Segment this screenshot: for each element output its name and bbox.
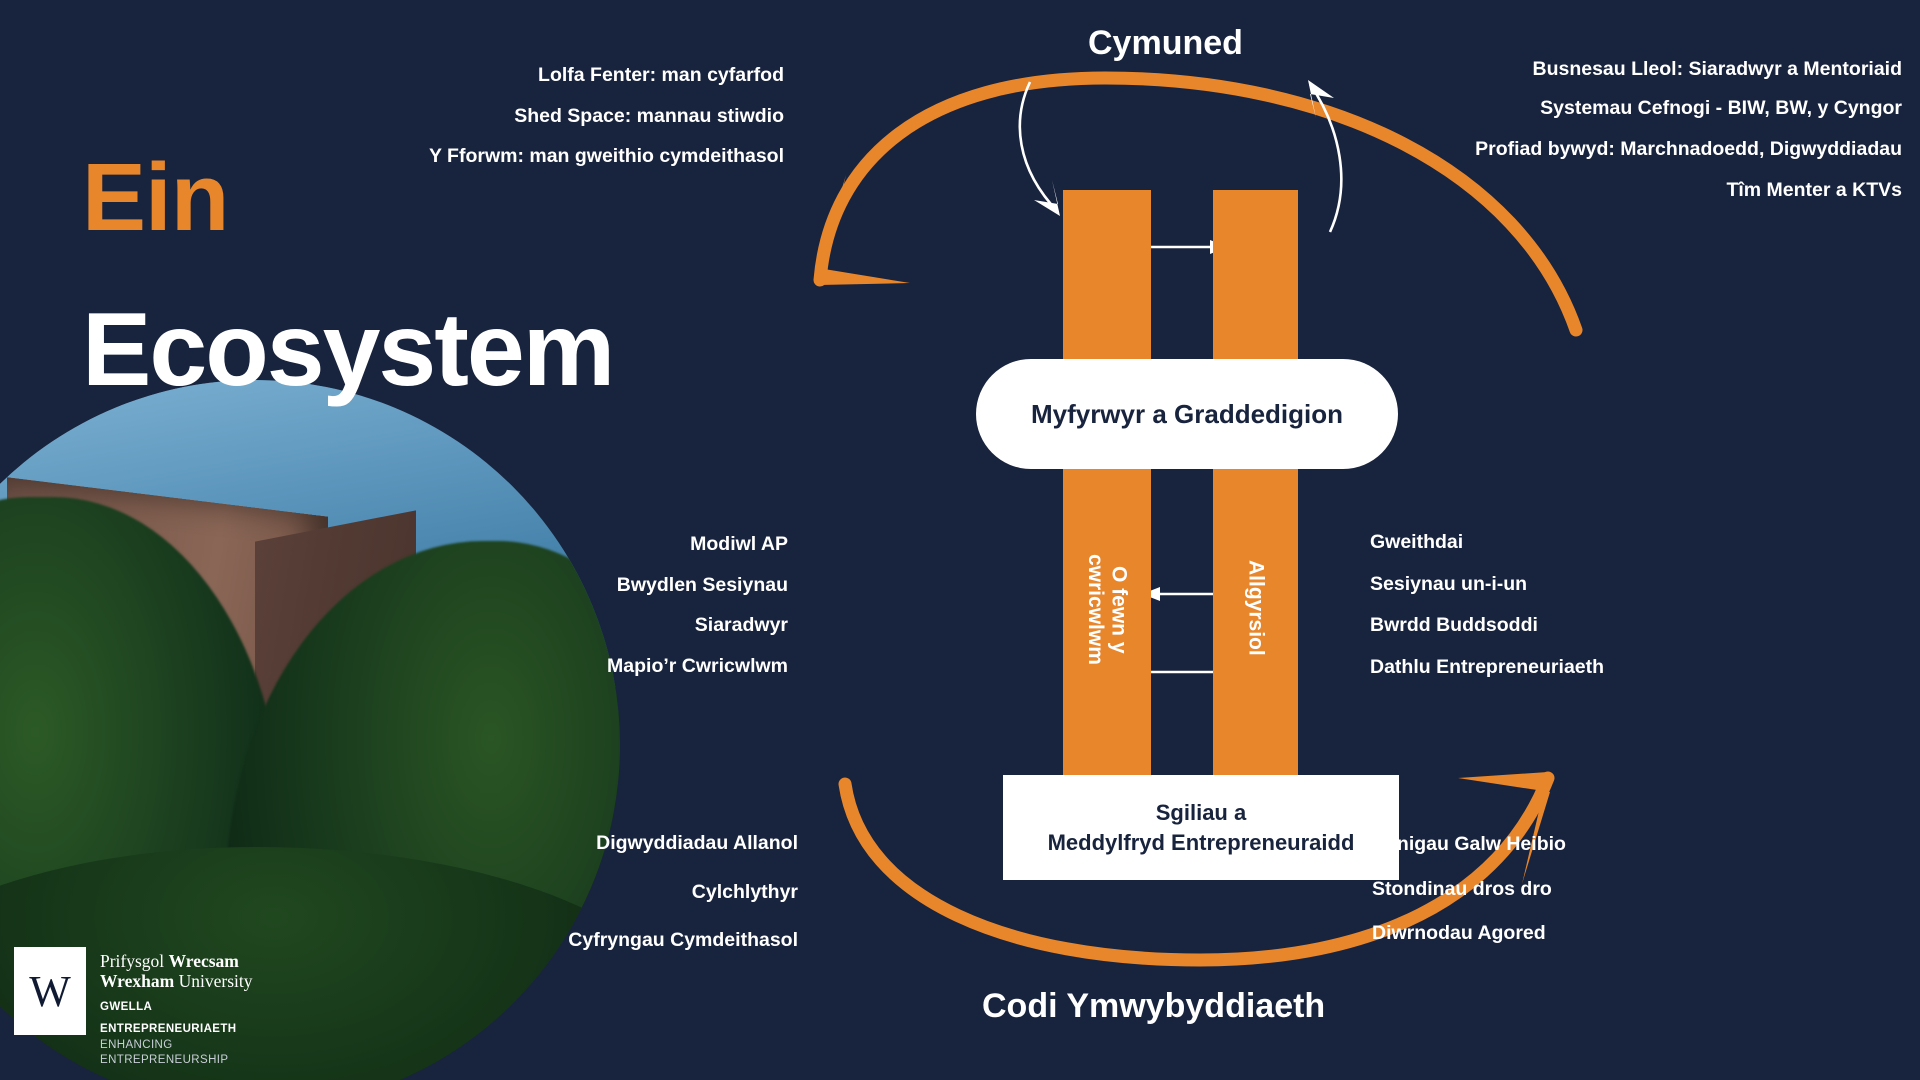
logo-text-block: Prifysgol Wrecsam Wrexham University GWE… — [100, 947, 252, 1068]
university-logo-lockup: W Prifysgol Wrecsam Wrexham University G… — [14, 947, 252, 1068]
section-title-community: Cymuned — [1088, 24, 1243, 63]
list-item: Sesiynau un-i-un — [1370, 575, 1800, 595]
pillar-extracurricular-label: Allgyrsiol — [1244, 560, 1268, 656]
logo-tagline-welsh-2: ENTREPRENEURIAETH — [100, 1023, 252, 1037]
labels-mid-left: Modiwl AP Bwydlen Sesiynau Siaradwyr Map… — [368, 535, 788, 697]
list-item: Lolfa Fenter: man cyfarfod — [224, 66, 784, 86]
w-monogram-icon: W — [14, 947, 86, 1035]
list-item: Cylchlythyr — [318, 883, 798, 903]
section-title-raising-awareness: Codi Ymwybyddiaeth — [982, 987, 1325, 1026]
pillar-within-curriculum-label: O fewn y cwricwlwm — [1083, 554, 1130, 665]
logo-tagline-english-1: ENHANCING — [100, 1039, 252, 1053]
logo-university-welsh: Prifysgol Wrecsam — [100, 951, 252, 971]
logo-wrecsam: Wrecsam — [169, 951, 239, 971]
center-students-graduates-pill[interactable]: Myfyrwyr a Graddedigion — [976, 359, 1398, 469]
page-title: Ein Ecosystem — [82, 150, 613, 402]
labels-mid-right: Gweithdai Sesiynau un-i-un Bwrdd Buddsod… — [1370, 533, 1800, 699]
list-item: Digwyddiadau Allanol — [318, 834, 798, 854]
labels-bottom-left: Digwyddiadau Allanol Cylchlythyr Cyfryng… — [318, 834, 798, 980]
list-item: Stondinau dros dro — [1372, 880, 1802, 900]
logo-tagline-welsh-1: GWELLA — [100, 1001, 252, 1015]
list-item: Modiwl AP — [368, 535, 788, 555]
list-item: Tîm Menter a KTVs — [1382, 181, 1902, 201]
list-item: Bwrdd Buddsoddi — [1370, 616, 1800, 636]
list-item: Profiad bywyd: Marchnadoedd, Digwyddiada… — [1382, 137, 1902, 162]
labels-top-left: Lolfa Fenter: man cyfarfod Shed Space: m… — [224, 66, 784, 188]
list-item: Busnesau Lleol: Siaradwyr a Mentoriaid — [1382, 60, 1902, 80]
list-item: Siaradwyr — [368, 616, 788, 636]
logo-university-word: University — [174, 971, 252, 991]
title-line-ecosystem: Ecosystem — [82, 298, 613, 402]
list-item: Y Fforwm: man gweithio cymdeithasol — [224, 147, 784, 167]
white-curved-arrow-down-icon — [1020, 82, 1060, 216]
bottom-skills-mindset-box[interactable]: Sgiliau a Meddylfryd Entrepreneuraidd — [1003, 775, 1399, 880]
logo-university-english: Wrexham University — [100, 971, 252, 991]
list-item: Gweithdai — [1370, 533, 1800, 553]
center-pill-label: Myfyrwyr a Graddedigion — [1031, 399, 1343, 430]
list-item: Dathlu Entrepreneuriaeth — [1370, 658, 1800, 678]
labels-bottom-right: Clinigau Galw Heibio Stondinau dros dro … — [1372, 835, 1802, 969]
logo-wrexham: Wrexham — [100, 971, 174, 991]
labels-top-right: Busnesau Lleol: Siaradwyr a Mentoriaid S… — [1382, 60, 1902, 219]
logo-prifysgol: Prifysgol — [100, 951, 169, 971]
bottom-box-label: Sgiliau a Meddylfryd Entrepreneuraidd — [1048, 798, 1355, 858]
logo-tagline-english-2: ENTREPRENEURSHIP — [100, 1054, 252, 1068]
list-item: Cyfryngau Cymdeithasol — [318, 931, 798, 951]
list-item: Systemau Cefnogi - BIW, BW, y Cyngor — [1382, 99, 1902, 119]
list-item: Mapio’r Cwricwlwm — [368, 657, 788, 677]
list-item: Bwydlen Sesiynau — [368, 576, 788, 596]
white-curved-arrow-up-icon — [1308, 80, 1341, 232]
list-item: Clinigau Galw Heibio — [1372, 835, 1802, 855]
list-item: Diwrnodau Agored — [1372, 924, 1802, 944]
list-item: Shed Space: mannau stiwdio — [224, 107, 784, 127]
